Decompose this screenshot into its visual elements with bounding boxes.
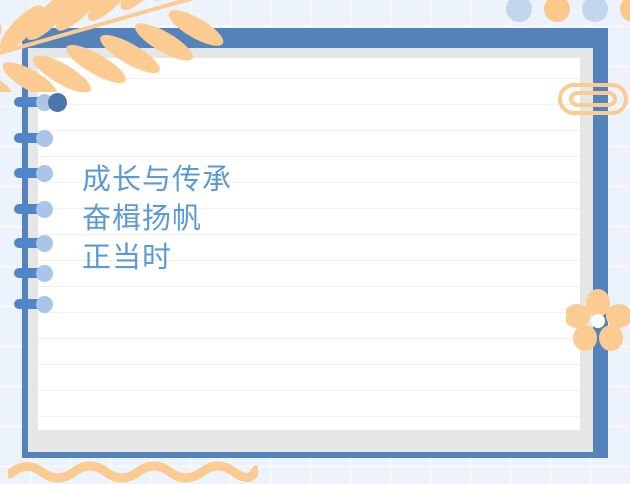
decor-dot-2-icon <box>544 0 570 22</box>
wave-decoration <box>8 458 258 484</box>
ring-circle-icon <box>36 235 53 252</box>
ring-accent-dot-icon <box>48 93 67 112</box>
spiral-ring-6 <box>14 267 56 279</box>
spiral-ring-2 <box>14 132 56 144</box>
ring-circle-icon <box>36 165 53 182</box>
spiral-ring-5 <box>14 237 56 249</box>
ring-circle-icon <box>36 296 53 313</box>
page-title: 成长与传承 奋楫扬帆 正当时 <box>82 160 502 277</box>
paperclip-icon <box>556 80 630 118</box>
paperclip-decoration <box>556 80 630 118</box>
spiral-ring-3 <box>14 167 56 179</box>
ring-circle-icon <box>36 201 53 218</box>
flower-decoration <box>566 288 630 352</box>
ring-circle-icon <box>36 265 53 282</box>
top-right-dots <box>506 0 630 28</box>
flower-icon <box>566 288 630 352</box>
title-line-2: 奋楫扬帆 <box>82 199 502 238</box>
decor-dot-4-icon <box>620 0 630 22</box>
wave-line-icon <box>8 458 258 484</box>
spiral-ring-7 <box>14 298 56 310</box>
ring-circle-icon <box>36 130 53 147</box>
leaf-branch-decoration <box>0 0 236 92</box>
spiral-ring-4 <box>14 203 56 215</box>
title-line-3: 正当时 <box>82 238 502 277</box>
title-line-1: 成长与传承 <box>82 160 502 199</box>
leaf-branch-icon <box>0 0 236 92</box>
decor-dot-3-icon <box>582 0 608 22</box>
spiral-ring-1 <box>14 96 56 108</box>
slide-canvas: 成长与传承 奋楫扬帆 正当时 <box>0 0 630 484</box>
decor-dot-1-icon <box>506 0 532 22</box>
